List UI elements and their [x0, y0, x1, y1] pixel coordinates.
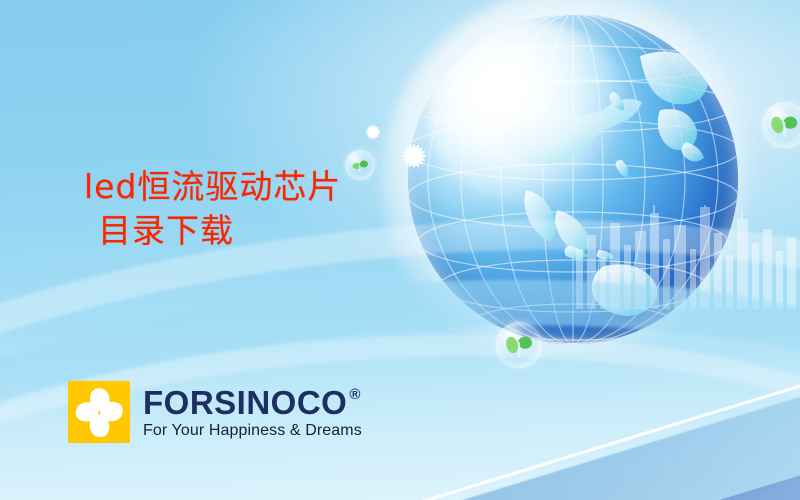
logo-tagline: For Your Happiness & Dreams	[143, 423, 362, 439]
four-petal-pinwheel-icon	[68, 381, 130, 443]
registered-trademark-icon: ®	[349, 387, 361, 402]
globe-rim	[408, 14, 738, 344]
globe-sphere	[408, 14, 738, 344]
headline-line-2: 目录下载	[98, 209, 341, 253]
earth-globe-icon	[408, 14, 738, 344]
bubble-sprout-left-icon	[345, 150, 375, 180]
logo-name-text: FORSINOCO	[143, 386, 347, 419]
headline: led恒流驱动芯片 目录下载	[84, 165, 341, 253]
logo-text-block: FORSINOCO ® For Your Happiness & Dreams	[143, 386, 362, 439]
brand-logo: FORSINOCO ® For Your Happiness & Dreams	[68, 381, 362, 443]
promo-banner: led恒流驱动芯片 目录下载 FORSINOCO ® For Your Happ…	[0, 0, 800, 500]
headline-line-1: led恒流驱动芯片	[84, 165, 341, 209]
logo-wordmark: FORSINOCO ®	[143, 386, 362, 419]
bubble-sprout-center-icon	[496, 322, 542, 368]
bubble-sprout-right-icon	[762, 102, 800, 148]
